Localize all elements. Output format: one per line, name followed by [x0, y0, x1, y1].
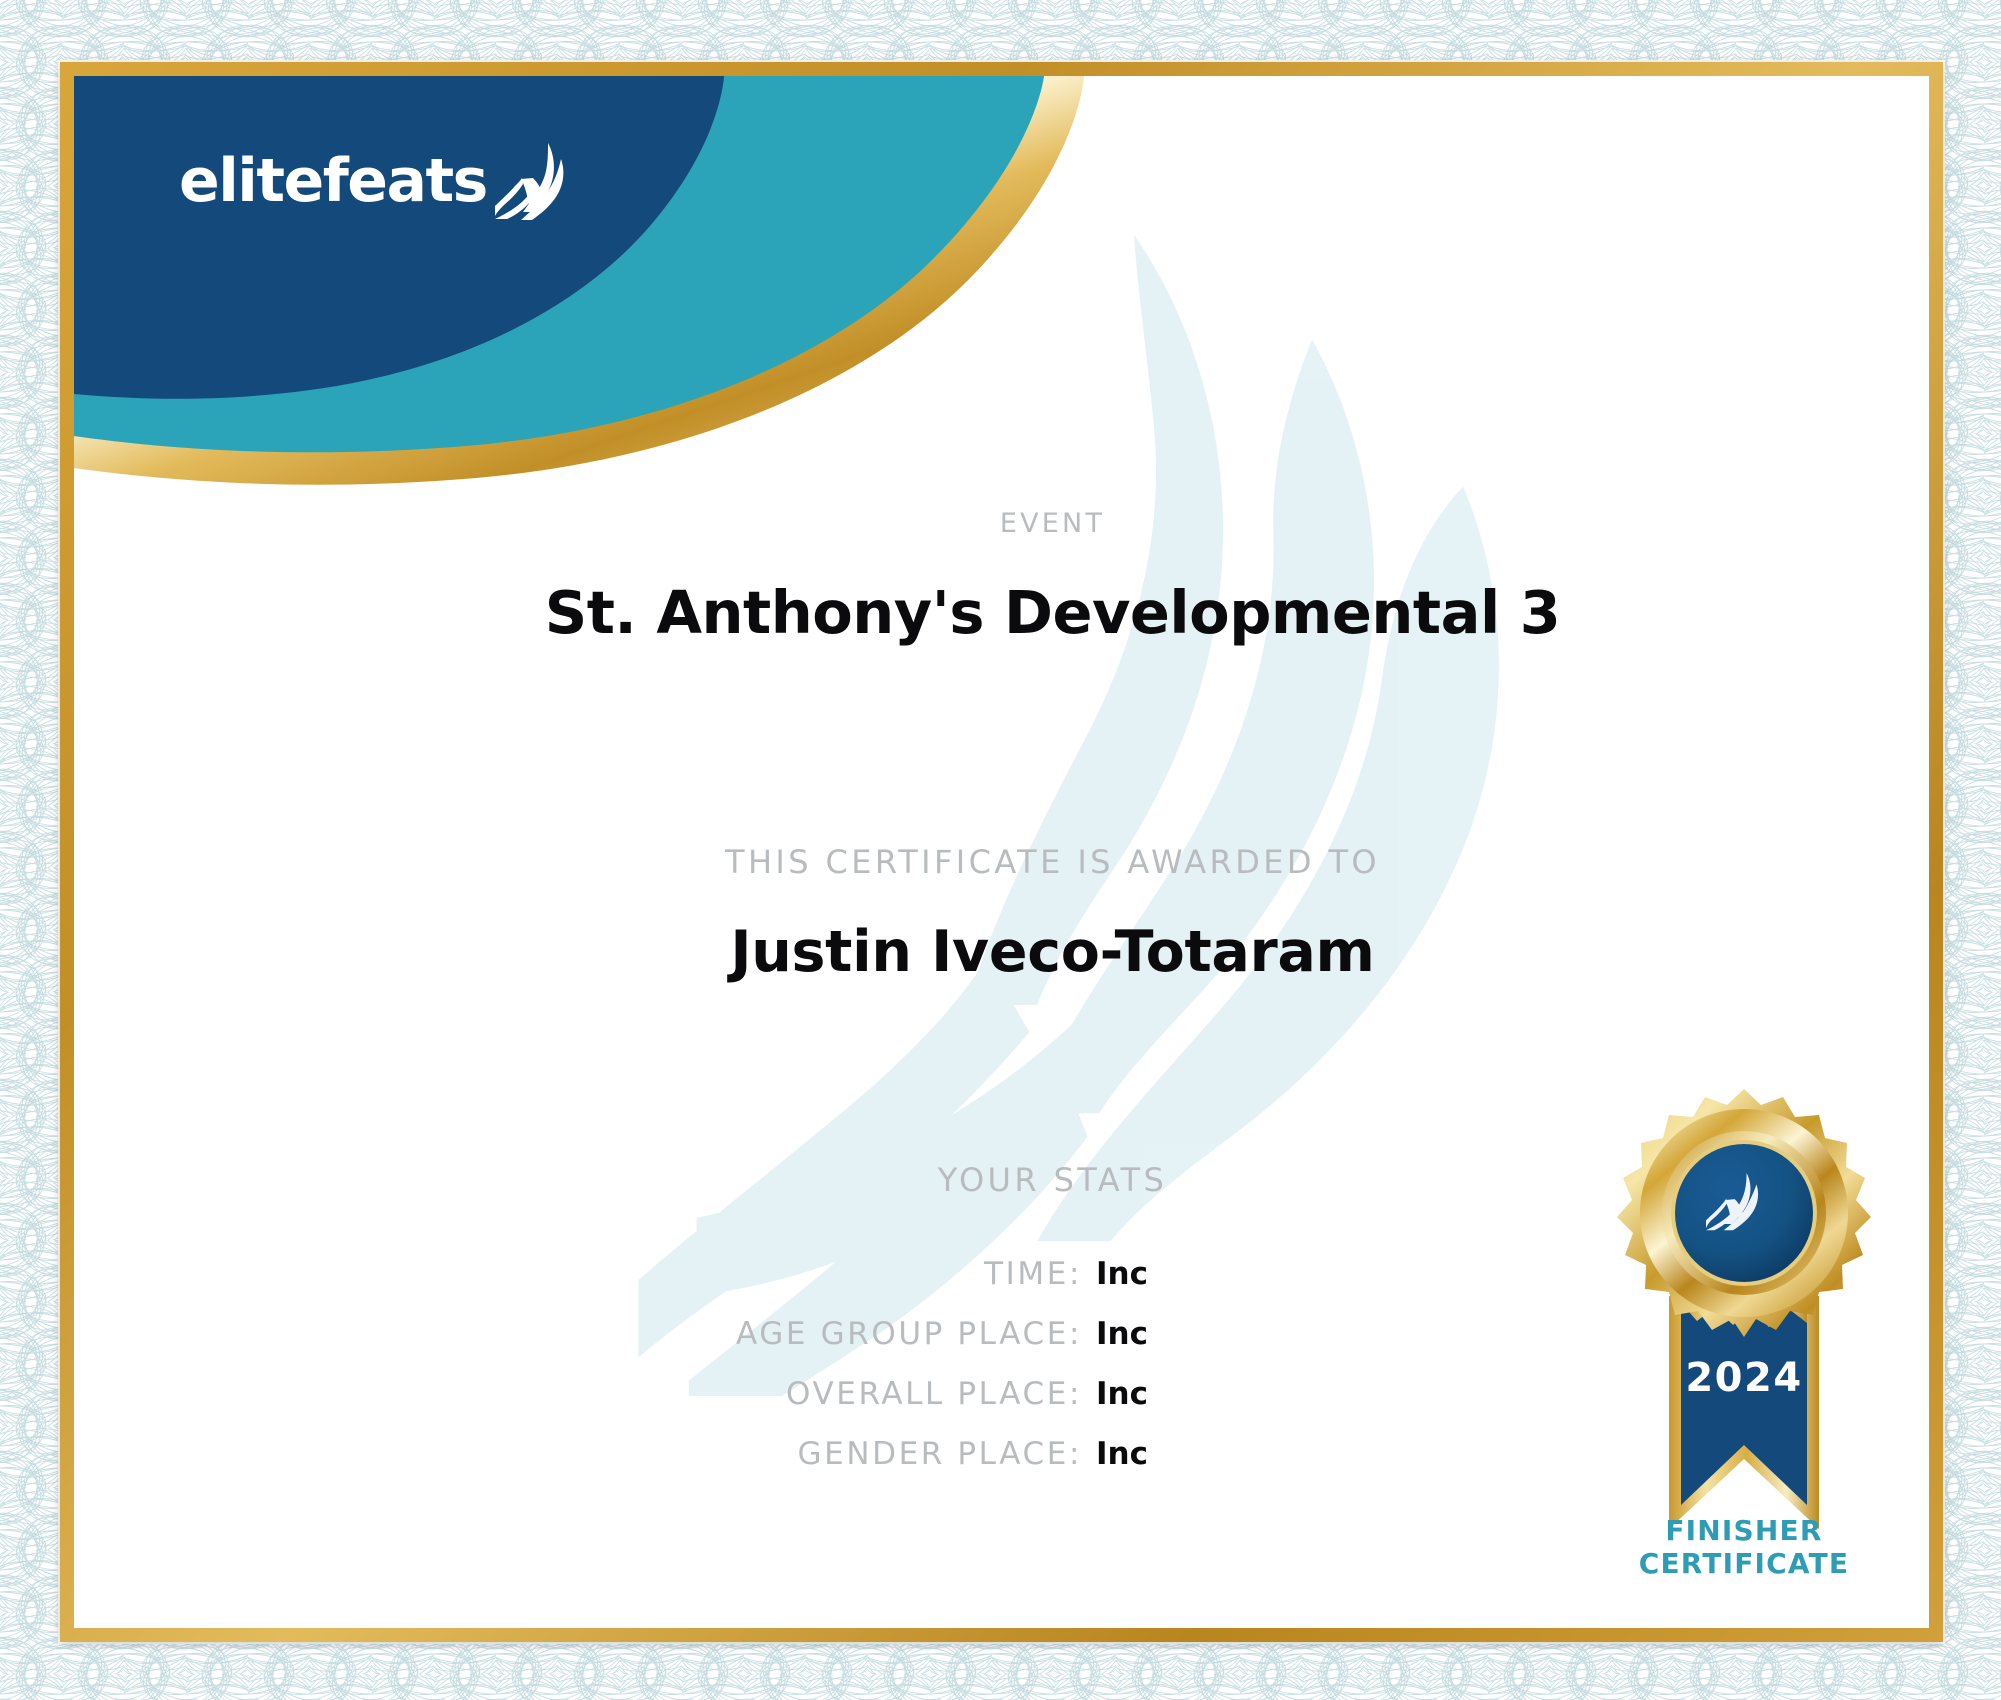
medal-year: 2024	[1685, 1355, 1802, 1401]
medal-caption-line1: FINISHER	[1574, 1514, 1914, 1547]
stat-value-age-group-place: Inc	[1096, 1316, 1154, 1352]
awarded-to-label: THIS CERTIFICATE IS AWARDED TO	[125, 843, 1929, 881]
elitefeats-logo: elitefeats	[179, 138, 569, 224]
stat-label-age-group-place: AGE GROUP PLACE:	[736, 1316, 1082, 1352]
brand-wordmark: elitefeats	[179, 151, 487, 211]
stat-value-gender-place: Inc	[1096, 1436, 1154, 1472]
gold-frame-border: elitefeats EVENT St. Anthony's Developme…	[60, 62, 1943, 1642]
stat-label-gender-place: GENDER PLACE:	[798, 1436, 1082, 1472]
medal-rosette	[1617, 1089, 1871, 1337]
event-label: EVENT	[125, 508, 1929, 539]
medal-caption-line2: CERTIFICATE	[1574, 1547, 1914, 1580]
stat-row-gender-place: GENDER PLACE: Inc	[74, 1436, 1154, 1472]
stat-label-overall-place: OVERALL PLACE:	[786, 1376, 1082, 1412]
finisher-medal-badge: 2024	[1599, 1081, 1889, 1551]
certificate-page: elitefeats EVENT St. Anthony's Developme…	[0, 0, 2001, 1700]
stat-row-overall-place: OVERALL PLACE: Inc	[74, 1376, 1154, 1412]
winged-foot-icon	[493, 140, 569, 224]
medal-caption: FINISHER CERTIFICATE	[1574, 1514, 1914, 1580]
recipient-name: Justin Iveco-Totaram	[125, 919, 1929, 985]
stats-list: TIME: Inc AGE GROUP PLACE: Inc OVERALL P…	[74, 1256, 1154, 1496]
certificate-inner-panel: elitefeats EVENT St. Anthony's Developme…	[74, 76, 1929, 1628]
event-title: St. Anthony's Developmental 3	[125, 578, 1929, 647]
stat-row-time: TIME: Inc	[74, 1256, 1154, 1292]
stat-row-age-group-place: AGE GROUP PLACE: Inc	[74, 1316, 1154, 1352]
stat-value-time: Inc	[1096, 1256, 1154, 1292]
stat-value-overall-place: Inc	[1096, 1376, 1154, 1412]
stat-label-time: TIME:	[984, 1256, 1082, 1292]
